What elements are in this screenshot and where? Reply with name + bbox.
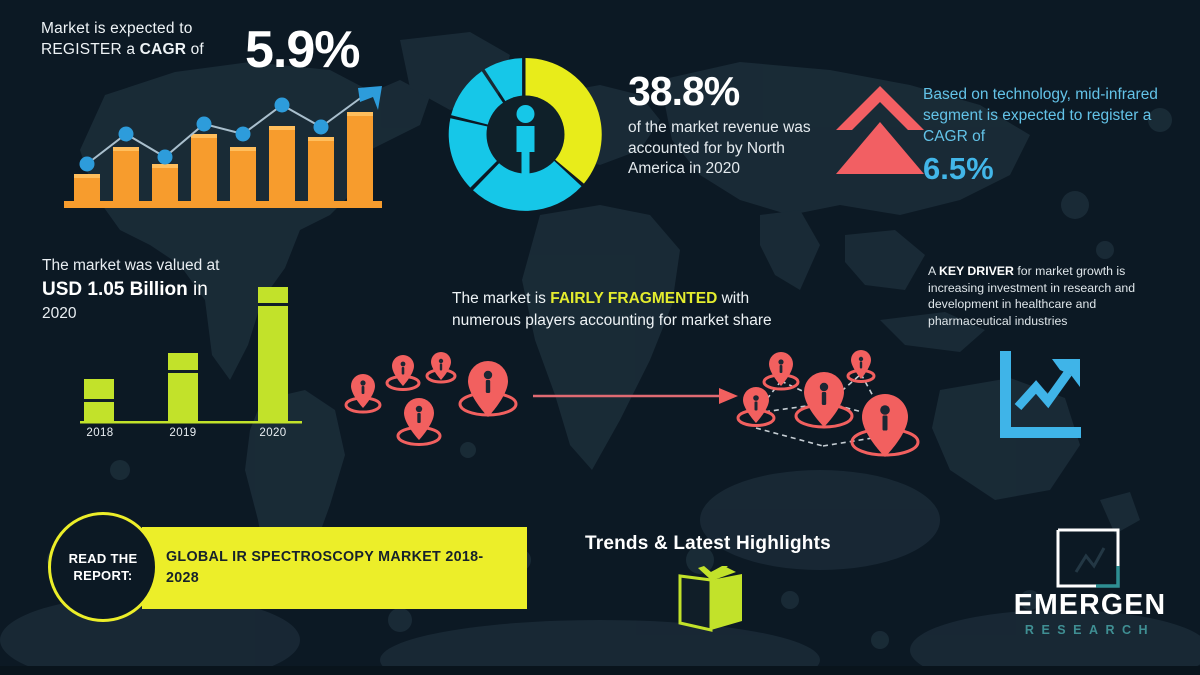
fragmentation-post: with: [717, 290, 749, 307]
infographic-canvas: Market is expected to REGISTER a CAGR of…: [0, 0, 1200, 675]
fragmentation-highlight: FAIRLY FRAGMENTED: [550, 290, 717, 307]
north-america-share-block: 38.8% of the market revenue was accounte…: [628, 68, 818, 180]
report-banner[interactable]: GLOBAL IR SPECTROSCOPY MARKET 2018-2028: [142, 527, 527, 609]
valuation-bar-chart: 2018 2019 2020: [70, 275, 310, 445]
technology-cagr-value: 6.5%: [923, 149, 1173, 189]
cagr-caption-bold: CAGR: [140, 41, 186, 58]
emergen-research-logo: EMERGEN RESEARCH: [1000, 528, 1180, 650]
double-up-arrow-icon: [834, 82, 926, 178]
cagr-caption-line2: REGISTER a CAGR of: [41, 39, 241, 60]
cagr-caption-line2-post: of: [186, 41, 204, 58]
technology-description: Based on technology, mid-infrared segmen…: [923, 84, 1173, 147]
connected-location-pins: [728, 348, 923, 463]
growth-bar-chart: [60, 82, 390, 212]
bottom-edge-bar: [0, 666, 1200, 675]
scattered-location-pins: [340, 352, 525, 457]
fragmentation-pre: The market is: [452, 290, 550, 307]
logo-subtitle: RESEARCH: [1000, 623, 1180, 637]
trends-title: Trends & Latest Highlights: [585, 533, 831, 555]
key-driver-block: A KEY DRIVER for market growth is increa…: [928, 263, 1173, 329]
revenue-share-donut-chart: [443, 52, 608, 217]
market-fragmentation-block: The market is FAIRLY FRAGMENTED with num…: [452, 288, 812, 332]
open-book-icon: [676, 566, 746, 632]
technology-segment-block: Based on technology, mid-infrared segmen…: [923, 84, 1173, 189]
logo-wordmark: EMERGEN: [1000, 588, 1180, 622]
cagr-caption: Market is expected to REGISTER a CAGR of: [41, 18, 241, 60]
square-outline-icon: [1056, 528, 1120, 588]
green-chart-label-2020: 2020: [245, 427, 301, 439]
transition-arrow-icon: [533, 385, 738, 407]
north-america-description: of the market revenue was accounted for …: [628, 118, 818, 180]
growth-chart-icon: [992, 345, 1088, 441]
key-driver-pre: A: [928, 264, 939, 278]
north-america-value: 38.8%: [628, 68, 818, 114]
green-chart-label-2019: 2019: [155, 427, 211, 439]
valuation-line1: The market was valued at: [42, 255, 272, 277]
cagr-caption-line2-pre: REGISTER a: [41, 41, 140, 58]
report-banner-title: GLOBAL IR SPECTROSCOPY MARKET 2018-2028: [166, 547, 513, 589]
green-chart-label-2018: 2018: [72, 427, 128, 439]
key-driver-bold: KEY DRIVER: [939, 264, 1014, 278]
cagr-caption-line1: Market is expected to: [41, 18, 241, 39]
cagr-value: 5.9%: [245, 20, 360, 80]
read-the-report-label: READ THE REPORT:: [51, 550, 155, 584]
read-the-report-button[interactable]: READ THE REPORT:: [48, 512, 158, 622]
fragmentation-line2: numerous players accounting for market s…: [452, 310, 812, 332]
key-driver-text: A KEY DRIVER for market growth is increa…: [928, 263, 1173, 329]
fragmentation-line1: The market is FAIRLY FRAGMENTED with: [452, 288, 812, 310]
